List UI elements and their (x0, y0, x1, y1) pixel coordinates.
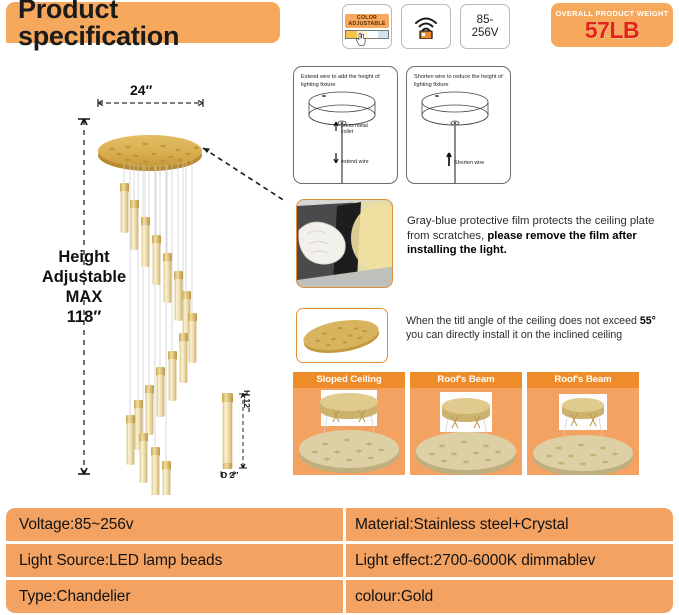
spec-type: Type:Chandelier (6, 580, 343, 613)
extend-wire-illustration: press metal collet extend wire (294, 67, 399, 185)
protective-film-photo (296, 199, 393, 288)
shorten-wire-label: Shorten wire (454, 160, 484, 166)
weight-value: 57LB (585, 18, 639, 42)
mount-card-roofs-beam-2: Roof's Beam (527, 372, 639, 475)
mount-card-title: Sloped Ceiling (293, 372, 405, 388)
width-dimension-line (98, 99, 203, 107)
overall-weight-badge: OVERALL PRODUCT WEIGHT 57LB (551, 3, 673, 47)
voltage-line-1: 85- (472, 14, 499, 27)
svg-text:collet: collet (341, 129, 354, 135)
shorten-wire-illustration: Shorten wire (407, 67, 512, 185)
leader-line (203, 148, 285, 203)
height-adjustable-label: Height Adjustable MAX 118″ (24, 247, 144, 327)
table-row: Light Source:LED lamp beads Light effect… (6, 544, 673, 577)
mount-card-image (293, 388, 405, 475)
extend-wire-panel: Extend wire to add the height of lightin… (293, 66, 398, 184)
table-row: Voltage:85~256v Material:Stainless steel… (6, 508, 673, 541)
tilt-note-part2: you can directly install it on the incli… (406, 329, 622, 341)
tilted-plate-photo (296, 308, 388, 363)
voltage-badge: 85- 256V (460, 4, 510, 49)
voltage-line-2: 256V (472, 27, 499, 40)
page-title: Product specification (18, 0, 280, 50)
spec-material: Material:Stainless steel+Crystal (346, 508, 673, 541)
product-specification-infographic: Product specification COLOR ADJUSTABLE (0, 0, 679, 615)
mount-card-sloped-ceiling: Sloped Ceiling (293, 372, 405, 475)
tube-diameter-label: D 2″ (221, 470, 238, 480)
spec-voltage: Voltage:85~256v (6, 508, 343, 541)
width-dimension-label: 24″ (130, 82, 152, 98)
spec-light-source: Light Source:LED lamp beads (6, 544, 343, 577)
wifi-signal-icon (413, 15, 439, 39)
tilt-angle-note: When the titl angle of the ceiling does … (406, 314, 674, 342)
mount-card-roofs-beam-1: Roof's Beam (410, 372, 522, 475)
spec-light-effect: Light effect:2700-6000K dimmablev (346, 544, 673, 577)
mount-card-title: Roof's Beam (410, 372, 522, 388)
extend-wire-label: extend wire (341, 159, 369, 165)
hand-cursor-icon (353, 32, 368, 46)
color-adjustable-badge: COLOR ADJUSTABLE (342, 4, 392, 49)
feature-badge-row: COLOR ADJUSTABLE (342, 4, 510, 49)
page-title-banner: Product specification (6, 2, 280, 43)
protective-film-note: Gray-blue protective film protects the c… (407, 214, 669, 258)
tilt-note-part1: When the titl angle of the ceiling does … (406, 315, 640, 327)
mount-card-image (527, 388, 639, 475)
spec-colour: colour:Gold (346, 580, 673, 613)
tilt-angle-value: 55° (640, 315, 656, 327)
shorten-wire-panel: Shorten wire to reduce the height of lig… (406, 66, 511, 184)
chandelier-dimension-diagram: 24″ (0, 55, 285, 495)
mount-card-image (410, 388, 522, 475)
mount-card-title: Roof's Beam (527, 372, 639, 388)
table-row: Type:Chandelier colour:Gold (6, 580, 673, 613)
ceiling-plate (98, 135, 202, 171)
color-adjustable-label: COLOR ADJUSTABLE (345, 14, 389, 29)
remote-control-badge (401, 4, 451, 49)
tube-height-label: H 12″ (242, 390, 252, 412)
tube-group (120, 183, 197, 495)
specification-table: Voltage:85~256v Material:Stainless steel… (6, 508, 673, 612)
